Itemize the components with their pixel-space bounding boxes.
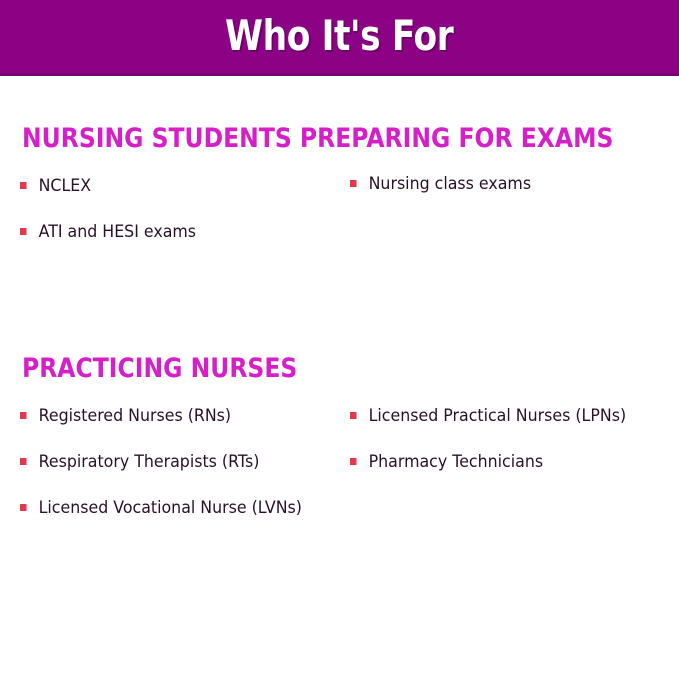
list-item-label: Pharmacy Technicians [369,452,543,472]
list-item: Respiratory Therapists (RTs) [20,452,327,472]
list-item: NCLEX [20,176,327,196]
list-item: ATI and HESI exams [20,222,327,242]
page-title: Who It's For [225,14,453,58]
column-right: Nursing class exams [350,174,679,194]
column-right: Licensed Practical Nurses (LPNs) Pharmac… [350,406,679,472]
list-item-label: NCLEX [39,176,92,196]
bullet-square-icon [20,182,27,189]
list-item-label: Licensed Vocational Nurse (LVNs) [39,498,302,518]
column-left: Registered Nurses (RNs) Respiratory Ther… [20,406,350,518]
section-practicing-nurses: PRACTICING NURSES Registered Nurses (RNs… [0,354,679,406]
section-heading-nursing-students: NURSING STUDENTS PREPARING FOR EXAMS [22,124,594,154]
column-left: NCLEX ATI and HESI exams [20,176,350,242]
bullet-square-icon [20,412,27,419]
list-item-label: Respiratory Therapists (RTs) [39,452,260,472]
list-item: Pharmacy Technicians [350,452,656,472]
bullet-square-icon [350,180,357,187]
section-nursing-students: NURSING STUDENTS PREPARING FOR EXAMS NCL… [0,124,679,176]
bullet-square-icon [20,228,27,235]
section-heading-practicing-nurses: PRACTICING NURSES [22,354,594,384]
slide-who-its-for: Who It's For NURSING STUDENTS PREPARING … [0,0,679,679]
page-banner: Who It's For [0,0,679,76]
list-item-label: Nursing class exams [369,174,531,194]
list-item-label: Registered Nurses (RNs) [39,406,231,426]
content-area: NURSING STUDENTS PREPARING FOR EXAMS NCL… [0,76,679,679]
list-item: Registered Nurses (RNs) [20,406,327,426]
bullet-square-icon [20,458,27,465]
list-item: Nursing class exams [350,174,656,194]
bullet-square-icon [350,412,357,419]
list-item: Licensed Vocational Nurse (LVNs) [20,498,327,518]
list-item-label: ATI and HESI exams [39,222,196,242]
bullet-square-icon [350,458,357,465]
list-item: Licensed Practical Nurses (LPNs) [350,406,656,426]
bullet-square-icon [20,504,27,511]
list-item-label: Licensed Practical Nurses (LPNs) [369,406,627,426]
